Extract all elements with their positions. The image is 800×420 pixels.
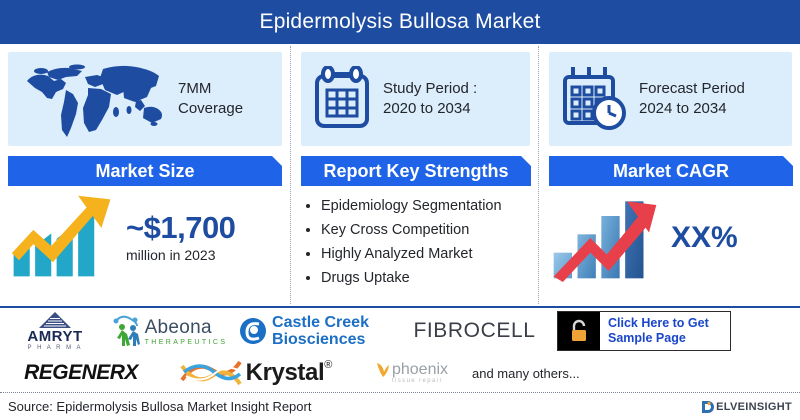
calendar-clock-icon (559, 65, 629, 133)
logo-abeona: Abeona THERAPEUTICS (104, 314, 234, 348)
study-period-text: Study Period : 2020 to 2034 (383, 79, 477, 119)
castle-creek-mark-icon (239, 317, 267, 345)
page-title: Epidermolysis Bullosa Market (259, 10, 540, 34)
card-coverage: 7MM Coverage (8, 52, 282, 146)
logo-krystal-sub: ® (324, 359, 332, 371)
logo-regenerx-name: REGENERX (24, 361, 138, 385)
section-heading-key-strengths: Report Key Strengths (301, 156, 531, 186)
list-item: Drugs Uptake (321, 268, 530, 289)
logo-abeona-sub: THERAPEUTICS (145, 339, 228, 346)
amryt-mark-icon (38, 312, 72, 328)
card-study-period: Study Period : 2020 to 2034 (301, 52, 530, 146)
column-market-cagr: Forecast Period 2024 to 2034 Market CAGR (538, 46, 800, 304)
many-others-label: and many others... (466, 366, 580, 381)
logo-castle-creek-sub: Biosciences (272, 331, 369, 348)
list-item: Epidemiology Segmentation (321, 196, 530, 217)
company-logos-row-1: AMRYT P H A R M A Abeona THERAPEUTICS (0, 308, 800, 354)
world-map-icon (18, 60, 168, 138)
logo-amryt-name: AMRYT (27, 328, 82, 345)
cta-wrapper: Click Here to Get Sample Page (544, 311, 744, 351)
market-size-caption: million in 2023 (126, 247, 235, 263)
footer: Source: Epidermolysis Bullosa Market Ins… (0, 392, 800, 420)
delveinsight-name: ELVEINSIGHT (716, 401, 792, 413)
coverage-text: 7MM Coverage (178, 79, 272, 119)
market-cagr-body: XX% (549, 194, 792, 282)
logo-amryt-sub: P H A R M A (28, 345, 83, 351)
market-cagr-value: XX% (671, 221, 738, 255)
logo-phoenix-sub: tissue repair (392, 378, 448, 384)
source-label: Source: Epidermolysis Bullosa Market Ins… (8, 399, 311, 414)
phoenix-bird-icon (374, 360, 390, 386)
infographic-page: Epidermolysis Bullosa Market (0, 0, 800, 420)
column-market-size: 7MM Coverage Market Size (0, 46, 290, 304)
cta-line1: Click Here to Get (608, 316, 709, 331)
logo-amryt: AMRYT P H A R M A (6, 312, 104, 351)
logo-phoenix-name: phoenix (392, 362, 448, 378)
study-period-range: 2020 to 2034 (383, 99, 477, 119)
section-heading-market-size: Market Size (8, 156, 282, 186)
get-sample-page-button[interactable]: Click Here to Get Sample Page (557, 311, 731, 351)
bar-chart-up-arrow-icon (8, 194, 116, 280)
key-strengths-list: Epidemiology Segmentation Key Cross Comp… (301, 196, 530, 289)
card-forecast-period: Forecast Period 2024 to 2034 (549, 52, 792, 146)
columns-container: 7MM Coverage Market Size (0, 46, 800, 304)
logo-castle-creek-name: Castle Creek (272, 315, 369, 331)
calendar-icon (311, 66, 373, 132)
logo-fibrocell-name: FIBROCELL (413, 319, 535, 343)
study-period-label: Study Period : (383, 80, 477, 97)
logo-krystal: Krystal ® (156, 358, 356, 388)
logo-phoenix: phoenix tissue repair (356, 360, 466, 386)
list-item: Key Cross Competition (321, 220, 530, 241)
delveinsight-mark-icon (701, 400, 714, 414)
market-size-body: ~$1,700 million in 2023 (8, 194, 282, 280)
company-logos-section: AMRYT P H A R M A Abeona THERAPEUTICS (0, 306, 800, 392)
abeona-mark-icon (111, 314, 141, 348)
section-heading-market-cagr: Market CAGR (549, 156, 793, 186)
title-banner: Epidermolysis Bullosa Market (0, 0, 800, 44)
delveinsight-logo: ELVEINSIGHT (701, 400, 792, 414)
market-size-value: ~$1,700 (126, 211, 235, 245)
logo-regenerx: REGENERX (6, 361, 156, 385)
coverage-label: 7MM Coverage (178, 80, 243, 117)
logo-castle-creek: Castle Creek Biosciences (234, 315, 374, 348)
fibrocell-mark-icon (382, 318, 408, 344)
logo-fibrocell: FIBROCELL (374, 318, 544, 344)
krystal-dna-icon (180, 358, 242, 388)
column-key-strengths: Study Period : 2020 to 2034 Report Key S… (290, 46, 538, 304)
logo-abeona-name: Abeona (145, 317, 228, 339)
forecast-period-range: 2024 to 2034 (639, 99, 745, 119)
cta-line2: Sample Page (608, 331, 709, 346)
forecast-period-label: Forecast Period (639, 80, 745, 97)
forecast-period-text: Forecast Period 2024 to 2034 (639, 79, 745, 119)
list-item: Highly Analyzed Market (321, 244, 530, 265)
cta-label: Click Here to Get Sample Page (600, 312, 730, 350)
logo-krystal-name: Krystal (246, 359, 325, 387)
bar-chart-red-arrow-icon (549, 194, 661, 282)
company-logos-row-2: REGENERX Krystal ® (0, 354, 800, 392)
padlock-icon (558, 312, 600, 350)
